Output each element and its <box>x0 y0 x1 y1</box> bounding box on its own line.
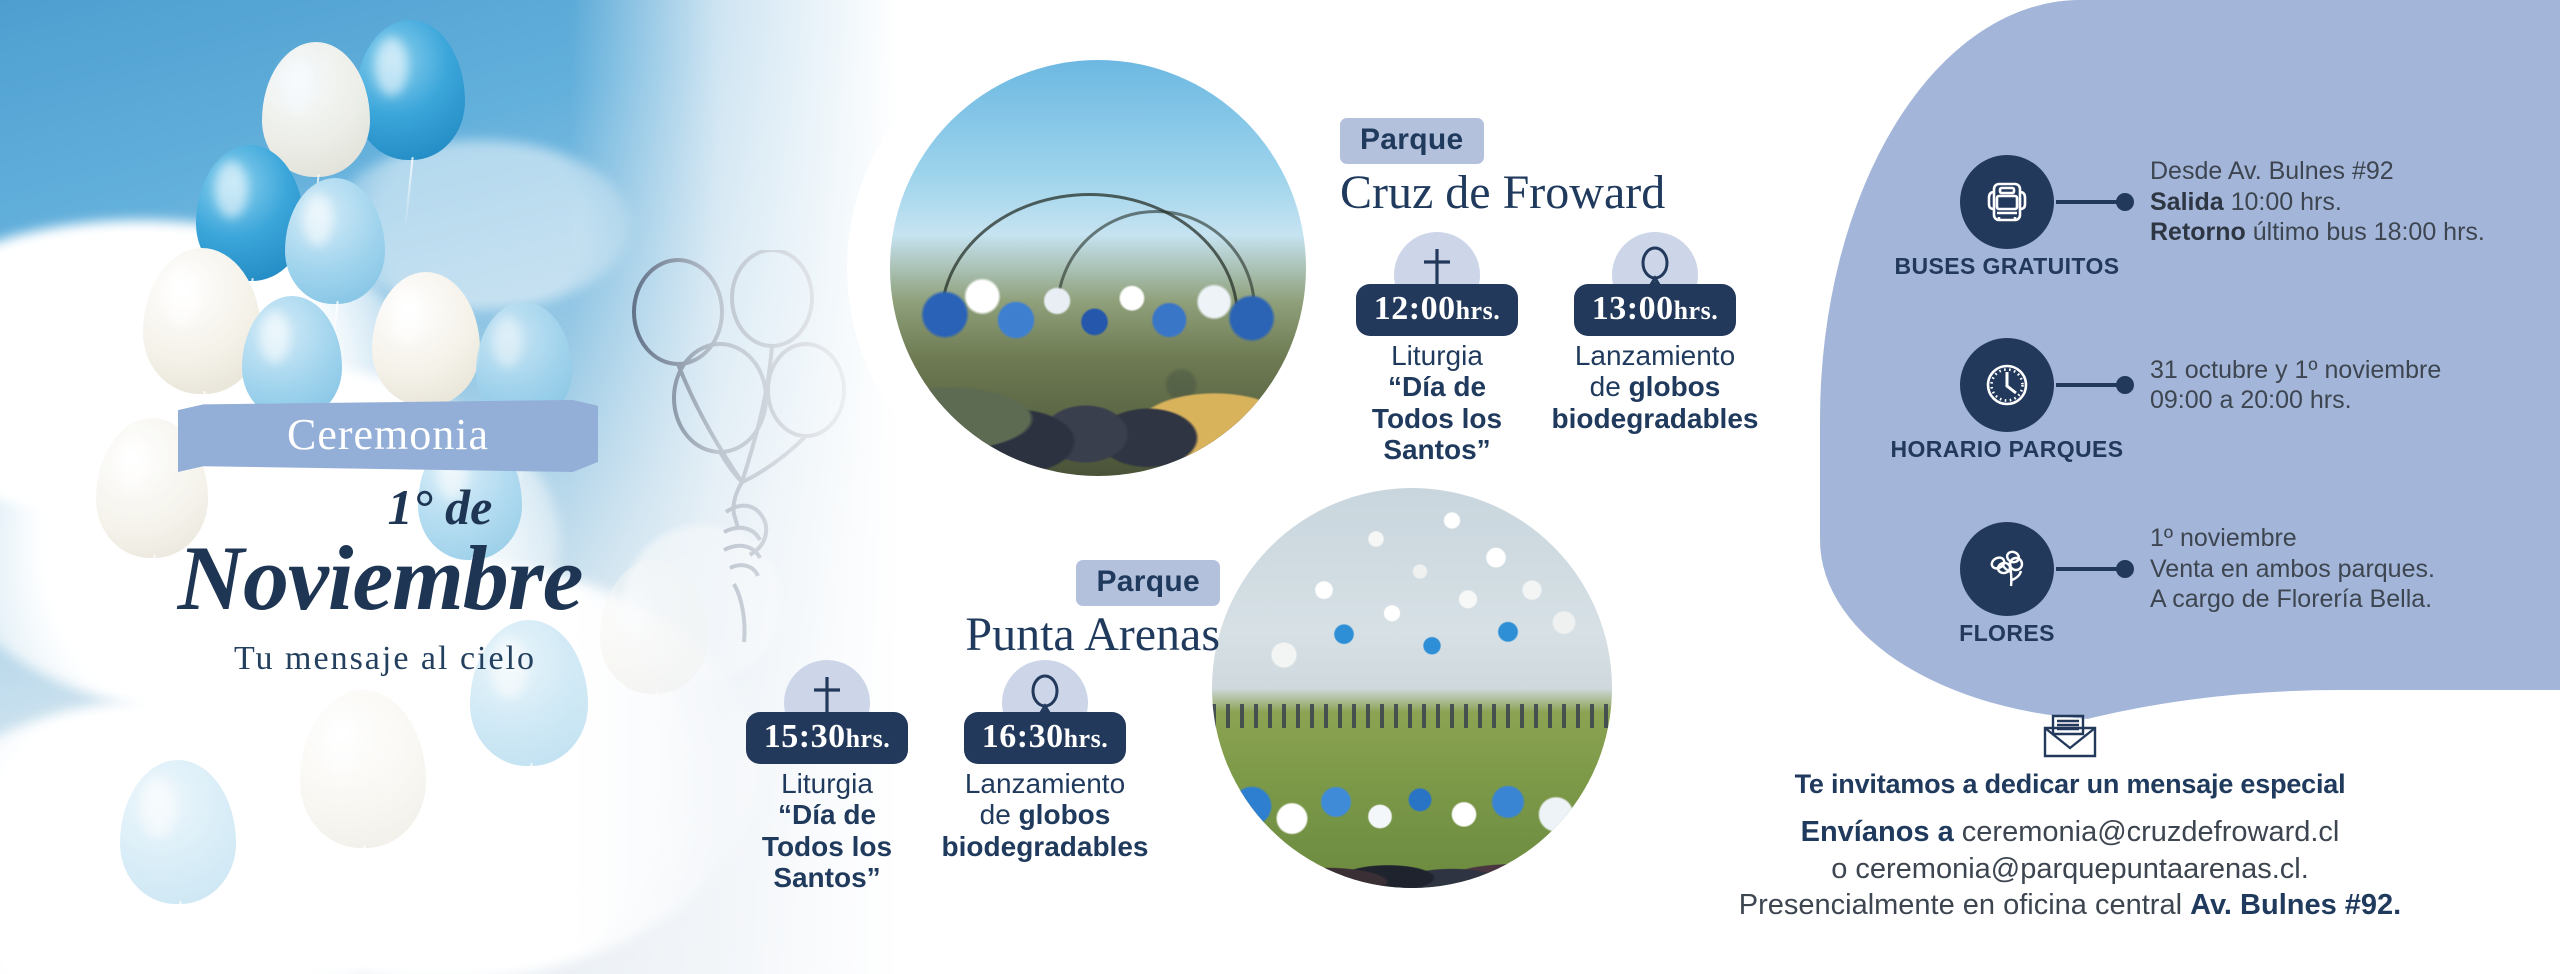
event-desc-line3: Todos los Santos” <box>1322 403 1552 466</box>
event-froward-globos: 13:00hrs. Lanzamiento de globos biodegra… <box>1540 232 1770 434</box>
event-time-unit: hrs. <box>846 724 891 753</box>
event-time-value: 12:00 <box>1374 290 1456 327</box>
info-line-2-rest: 10:00 hrs. <box>2224 188 2342 216</box>
info-line-3: Retorno último bus 18:00 hrs. <box>2150 217 2485 248</box>
info-line-2: Venta en ambos parques. <box>2150 554 2435 585</box>
promo-banner: Ceremonia 1° de Noviembre Tu mensaje al … <box>0 0 2560 974</box>
park-heading-punta: Parque Punta Arenas <box>868 560 1220 660</box>
punta-arenas-ceremony-photo <box>1212 488 1612 888</box>
info-line-1: Desde Av. Bulnes #92 <box>2150 156 2485 187</box>
event-desc-line2: globos <box>1629 371 1721 402</box>
event-froward-liturgia: 12:00hrs. Liturgia “Día de Todos los San… <box>1322 232 1552 465</box>
clock-icon <box>1960 338 2054 432</box>
contact-office-address: Av. Bulnes #92. <box>2190 889 2401 921</box>
froward-ceremony-photo <box>890 60 1306 476</box>
event-desc-line2: “Día de <box>778 799 876 830</box>
park-pill-punta: Parque <box>1076 560 1220 606</box>
event-desc-line1: Lanzamiento <box>930 768 1160 799</box>
park-heading-froward: Parque Cruz de Froward <box>1340 118 1665 218</box>
event-punta-globos: 16:30hrs. Lanzamiento de globos biodegra… <box>930 660 1160 862</box>
info-line-1: 1º noviembre <box>2150 523 2435 554</box>
info-line-3-rest: último bus 18:00 hrs. <box>2246 218 2485 246</box>
event-desc-line1: Liturgia <box>712 768 942 799</box>
info-text: 31 octubre y 1º noviembre 09:00 a 20:00 … <box>2150 355 2441 416</box>
event-time-unit: hrs. <box>1456 296 1501 325</box>
event-description: Liturgia “Día de Todos los Santos” <box>712 768 942 893</box>
contact-office-line: Presencialmente en oficina central Av. B… <box>1660 887 2480 924</box>
info-row-horario: HORARIO PARQUES 31 octubre y 1º noviembr… <box>1960 338 2441 432</box>
info-row-flores: FLORES 1º noviembre Venta en ambos parqu… <box>1960 522 2435 616</box>
contact-lead: Te invitamos a dedicar un mensaje especi… <box>1660 769 2480 800</box>
ceremonia-ribbon: Ceremonia <box>178 400 598 472</box>
info-line-3: A cargo de Florería Bella. <box>2150 584 2435 615</box>
event-desc-line2: globos <box>1019 799 1111 830</box>
contact-email-line-2[interactable]: o ceremonia@parquepuntaarenas.cl. <box>1660 851 2480 888</box>
contact-send-label: Envíanos a <box>1801 816 1954 848</box>
contact-office-text: Presencialmente en oficina central <box>1739 889 2190 921</box>
event-time-badge: 16:30hrs. <box>964 712 1126 764</box>
event-desc-line1: Lanzamiento <box>1540 340 1770 371</box>
park-pill-froward: Parque <box>1340 118 1484 164</box>
event-date-month: Noviembre <box>120 532 640 624</box>
event-desc-line2: “Día de <box>1388 371 1486 402</box>
info-caption: BUSES GRATUITOS <box>1895 253 2120 280</box>
contact-email-froward[interactable]: ceremonia@cruzdefroward.cl <box>1954 816 2340 848</box>
event-time-badge: 15:30hrs. <box>746 712 908 764</box>
info-line-2: 09:00 a 20:00 hrs. <box>2150 385 2441 416</box>
event-desc-line3: biodegradables <box>1540 403 1770 434</box>
event-punta-liturgia: 15:30hrs. Liturgia “Día de Todos los San… <box>712 660 942 893</box>
contact-email-line-1: Envíanos a ceremonia@cruzdefroward.cl <box>1660 814 2480 851</box>
event-tagline: Tu mensaje al cielo <box>150 640 620 678</box>
event-time-value: 16:30 <box>982 718 1064 755</box>
info-line-2: Salida 10:00 hrs. <box>2150 187 2485 218</box>
event-desc-line2-wrap: de globos <box>1540 371 1770 402</box>
event-desc-line2-wrap: de globos <box>930 799 1160 830</box>
event-time-badge: 13:00hrs. <box>1574 284 1736 336</box>
event-description: Lanzamiento de globos biodegradables <box>930 768 1160 862</box>
event-description: Lanzamiento de globos biodegradables <box>1540 340 1770 434</box>
info-caption: HORARIO PARQUES <box>1890 436 2123 463</box>
info-line-3-bold: Retorno <box>2150 218 2246 246</box>
park-name-froward: Cruz de Froward <box>1340 168 1665 218</box>
connector-line <box>2056 560 2134 578</box>
event-time-unit: hrs. <box>1064 724 1109 753</box>
event-desc-line3: Todos los Santos” <box>712 831 942 894</box>
contact-block: Te invitamos a dedicar un mensaje especi… <box>1660 712 2480 924</box>
event-time-value: 15:30 <box>764 718 846 755</box>
envelope-icon <box>1660 712 2480 765</box>
info-text: 1º noviembre Venta en ambos parques. A c… <box>2150 523 2435 615</box>
flowers-icon <box>1960 522 2054 616</box>
event-time-value: 13:00 <box>1592 290 1674 327</box>
connector-line <box>2056 193 2134 211</box>
info-line-1: 31 octubre y 1º noviembre <box>2150 355 2441 386</box>
info-row-buses: BUSES GRATUITOS Desde Av. Bulnes #92 Sal… <box>1960 155 2485 249</box>
event-time-badge: 12:00hrs. <box>1356 284 1518 336</box>
event-desc-line3: biodegradables <box>930 831 1160 862</box>
info-line-2-bold: Salida <box>2150 188 2224 216</box>
bus-icon <box>1960 155 2054 249</box>
event-desc-line1: Liturgia <box>1322 340 1552 371</box>
connector-line <box>2056 376 2134 394</box>
event-time-unit: hrs. <box>1674 296 1719 325</box>
ribbon-label: Ceremonia <box>287 409 489 460</box>
event-description: Liturgia “Día de Todos los Santos” <box>1322 340 1552 465</box>
info-text: Desde Av. Bulnes #92 Salida 10:00 hrs. R… <box>2150 156 2485 248</box>
park-name-punta: Punta Arenas <box>868 610 1220 660</box>
info-caption: FLORES <box>1959 620 2055 647</box>
